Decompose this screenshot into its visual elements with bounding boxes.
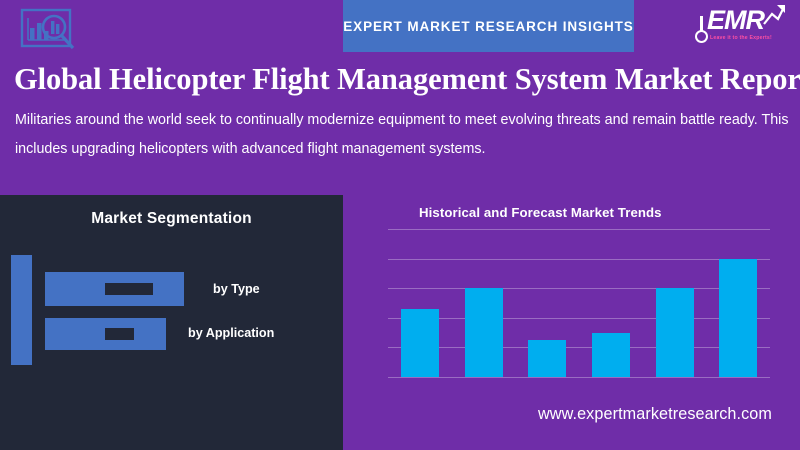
- analytics-magnifier-icon: [18, 6, 82, 54]
- chart-bar: [592, 333, 630, 377]
- chart-title: Historical and Forecast Market Trends: [419, 205, 662, 220]
- segmentation-notch-application: [105, 328, 134, 340]
- chart-bar: [719, 259, 757, 377]
- page-description: Militaries around the world seek to cont…: [15, 106, 795, 164]
- emr-wordmark: EMR: [707, 7, 764, 34]
- emr-logo: EMR Leave it to the Experts!: [688, 2, 792, 54]
- chart-bar: [401, 309, 439, 377]
- segmentation-label-type: by Type: [213, 282, 260, 296]
- report-infographic: EXPERT MARKET RESEARCH INSIGHTS EMR Leav…: [0, 0, 800, 450]
- chart-gridline: [388, 259, 770, 260]
- insights-banner-text: EXPERT MARKET RESEARCH INSIGHTS: [343, 19, 633, 34]
- segmentation-trunk-bar: [11, 255, 32, 365]
- chart-gridline: [388, 288, 770, 289]
- page-title: Global Helicopter Flight Management Syst…: [14, 60, 800, 98]
- market-trends-bar-chart: [388, 229, 770, 377]
- footer-website-url: www.expertmarketresearch.com: [538, 405, 772, 424]
- chart-gridline: [388, 347, 770, 348]
- chart-bar: [465, 288, 503, 377]
- segmentation-branch-bar-application: [45, 318, 166, 350]
- chart-gridline: [388, 318, 770, 319]
- chart-gridline: [388, 377, 770, 378]
- chart-bar: [528, 340, 566, 377]
- chart-bar: [656, 288, 694, 377]
- chart-gridline: [388, 229, 770, 230]
- growth-arrow-icon: [762, 2, 788, 26]
- market-segmentation-panel: Market Segmentation by Type by Applicati…: [0, 195, 343, 450]
- segmentation-title: Market Segmentation: [0, 210, 343, 228]
- segmentation-label-application: by Application: [188, 326, 274, 340]
- segmentation-branch-bar-type: [45, 272, 184, 306]
- insights-banner: EXPERT MARKET RESEARCH INSIGHTS: [343, 0, 634, 52]
- emr-tagline: Leave it to the Experts!: [710, 35, 772, 41]
- segmentation-notch-type: [105, 283, 153, 295]
